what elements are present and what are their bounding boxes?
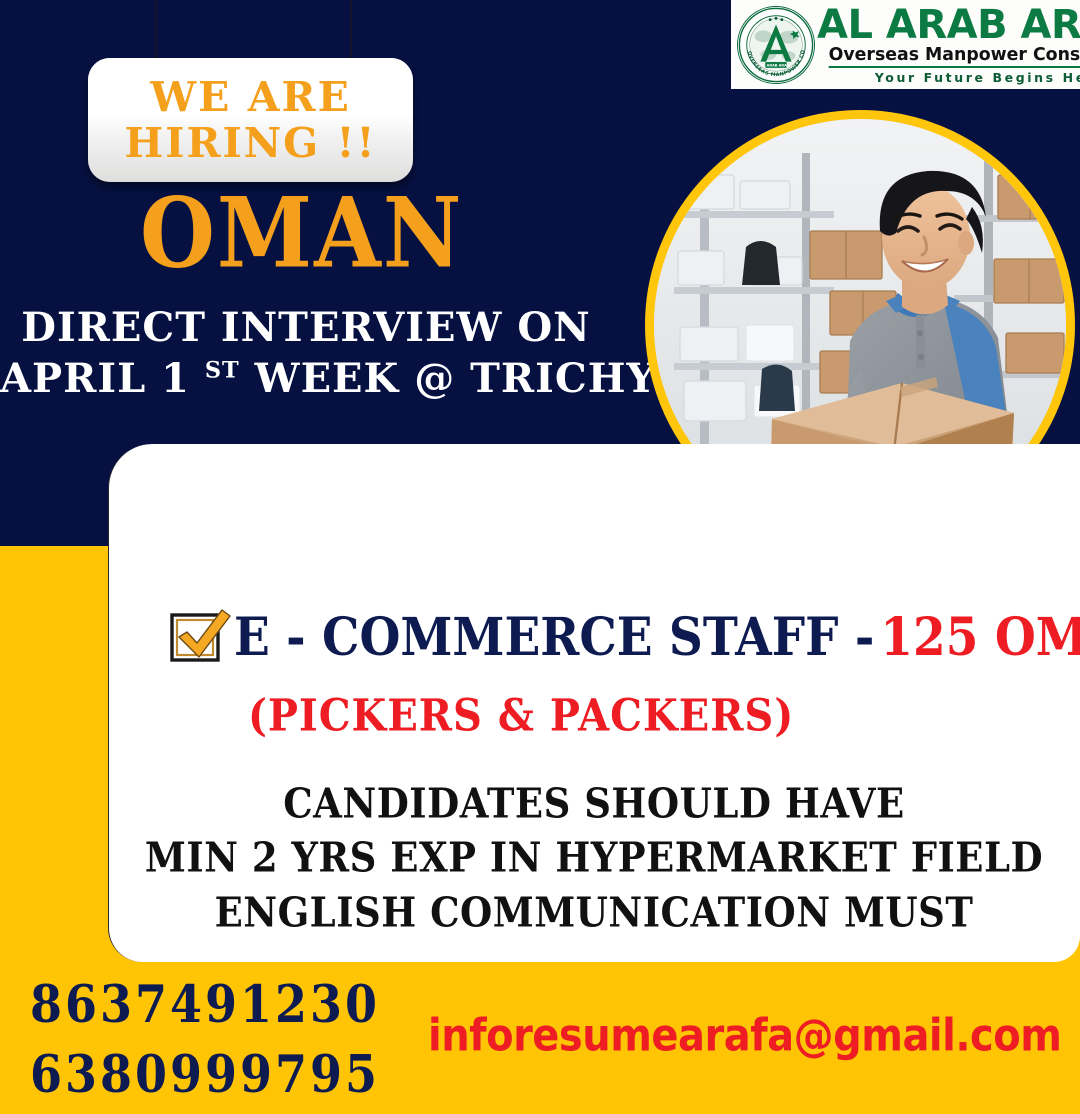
ordinal-suffix: ST xyxy=(205,358,240,384)
hiring-badge-line-2: HIRING !! xyxy=(125,121,377,165)
logo-tagline: Your Future Begins Here xyxy=(875,72,1080,85)
recruitment-poster: AL ARAB ARAFA OVERSEAS MANPOWER CONSULTA… xyxy=(0,0,1080,1080)
checked-checkbox-icon xyxy=(168,606,232,668)
requirement-line: CANDIDATES SHOULD HAVE xyxy=(108,773,1080,833)
job-salary-label: 125 OMR xyxy=(880,606,1080,668)
hiring-badge-line-1: WE ARE xyxy=(150,75,351,119)
country-headline: OMAN xyxy=(140,186,463,282)
logo-company-subtitle: Overseas Manpower Consultancy xyxy=(829,47,1080,69)
company-logo: AL ARAB ARAFA OVERSEAS MANPOWER CONSULTA… xyxy=(731,0,1080,89)
phone-number[interactable]: 8637491230 xyxy=(30,966,380,1044)
interview-details: DIRECT INTERVIEW ON APRIL 1 ST WEEK @ TR… xyxy=(0,302,612,404)
requirement-line: ENGLISH COMMUNICATION MUST xyxy=(108,882,1080,942)
email-address[interactable]: inforesumearafa@gmail.com xyxy=(428,1010,1061,1062)
phone-number[interactable]: 6380999795 xyxy=(30,1036,380,1114)
job-title-row: E - COMMERCE STAFF - 125 OMR xyxy=(168,606,1080,668)
job-title-label: E - COMMERCE STAFF - xyxy=(234,606,874,668)
requirement-line: MIN 2 YRS EXP IN HYPERMARKET FIELD xyxy=(108,828,1080,888)
job-subtitle-label: (PICKERS & PACKERS) xyxy=(248,690,794,742)
interview-line-2: APRIL 1 ST WEEK @ TRICHY xyxy=(0,353,612,404)
hanging-thread-right-icon xyxy=(350,0,352,60)
phone-numbers[interactable]: 8637491230 6380999795 xyxy=(30,966,380,1106)
hanging-thread-left-icon xyxy=(155,0,157,60)
we-are-hiring-badge: WE ARE HIRING !! xyxy=(88,58,413,182)
logo-company-name: AL ARAB ARAFA xyxy=(817,5,1080,45)
requirements-list: CANDIDATES SHOULD HAVE MIN 2 YRS EXP IN … xyxy=(108,776,1080,939)
company-seal-icon: AL ARAB ARAFA OVERSEAS MANPOWER CONSULTA… xyxy=(737,6,815,84)
interview-line-1: DIRECT INTERVIEW ON xyxy=(0,302,612,353)
svg-text:AL ARAB ARAFA: AL ARAB ARAFA xyxy=(761,63,792,67)
